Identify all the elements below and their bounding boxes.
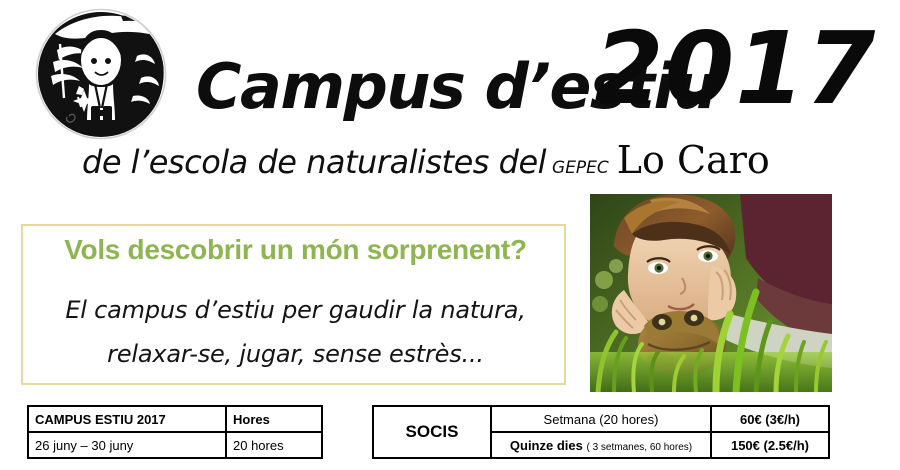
price-value-setmana: 60€ (3€/h) xyxy=(711,406,829,432)
price-option-quinze-dies-note: ( 3 setmanes, 60 hores) xyxy=(586,442,692,453)
price-value-quinze-dies: 150€ (2.5€/h) xyxy=(711,432,829,458)
poster-title: Campus d’estiu 2017 xyxy=(196,28,896,133)
table-row: SOCIS Setmana (20 hores) 60€ (3€/h) xyxy=(373,406,829,432)
subtitle-org-name: Lo Caro xyxy=(617,138,770,182)
callout-box: Vols descobrir un món sorprenent? El cam… xyxy=(21,224,566,385)
boy-with-frog-photo xyxy=(590,194,832,392)
schedule-header-campus: CAMPUS ESTIU 2017 xyxy=(28,406,226,432)
schedule-header-hores: Hores xyxy=(226,406,322,432)
poster-header: Campus d’estiu 2017 de l’escola de natur… xyxy=(0,0,900,190)
title-year: 2017 xyxy=(594,19,876,119)
callout-body-line-1: El campus d’estiu per gaudir la natura, xyxy=(23,288,568,332)
price-option-quinze-dies-label: Quinze dies xyxy=(510,438,583,453)
schedule-cell-hours: 20 hores xyxy=(226,432,322,458)
callout-body-line-2: relaxar-se, jugar, sense estrès... xyxy=(23,332,568,376)
subtitle-text: de l’escola de naturalistes del xyxy=(82,143,546,181)
schedule-cell-dates: 26 juny – 30 juny xyxy=(28,432,226,458)
table-row: 26 juny – 30 juny 20 hores xyxy=(28,432,322,458)
price-group-label: SOCIS xyxy=(373,406,491,458)
callout-heading: Vols descobrir un món sorprenent? xyxy=(23,234,568,266)
price-option-quinze-dies: Quinze dies ( 3 setmanes, 60 hores) xyxy=(491,432,711,458)
gepec-lo-caro-logo xyxy=(29,4,174,146)
table-row: CAMPUS ESTIU 2017 Hores xyxy=(28,406,322,432)
subtitle-org-abbr: GEPEC xyxy=(552,151,609,179)
price-table: SOCIS Setmana (20 hores) 60€ (3€/h) Quin… xyxy=(372,405,830,459)
callout-body: El campus d’estiu per gaudir la natura, … xyxy=(23,288,568,376)
schedule-table: CAMPUS ESTIU 2017 Hores 26 juny – 30 jun… xyxy=(27,405,323,459)
price-option-setmana: Setmana (20 hores) xyxy=(491,406,711,432)
poster-subtitle: de l’escola de naturalistes delGEPECLo C… xyxy=(82,138,770,180)
